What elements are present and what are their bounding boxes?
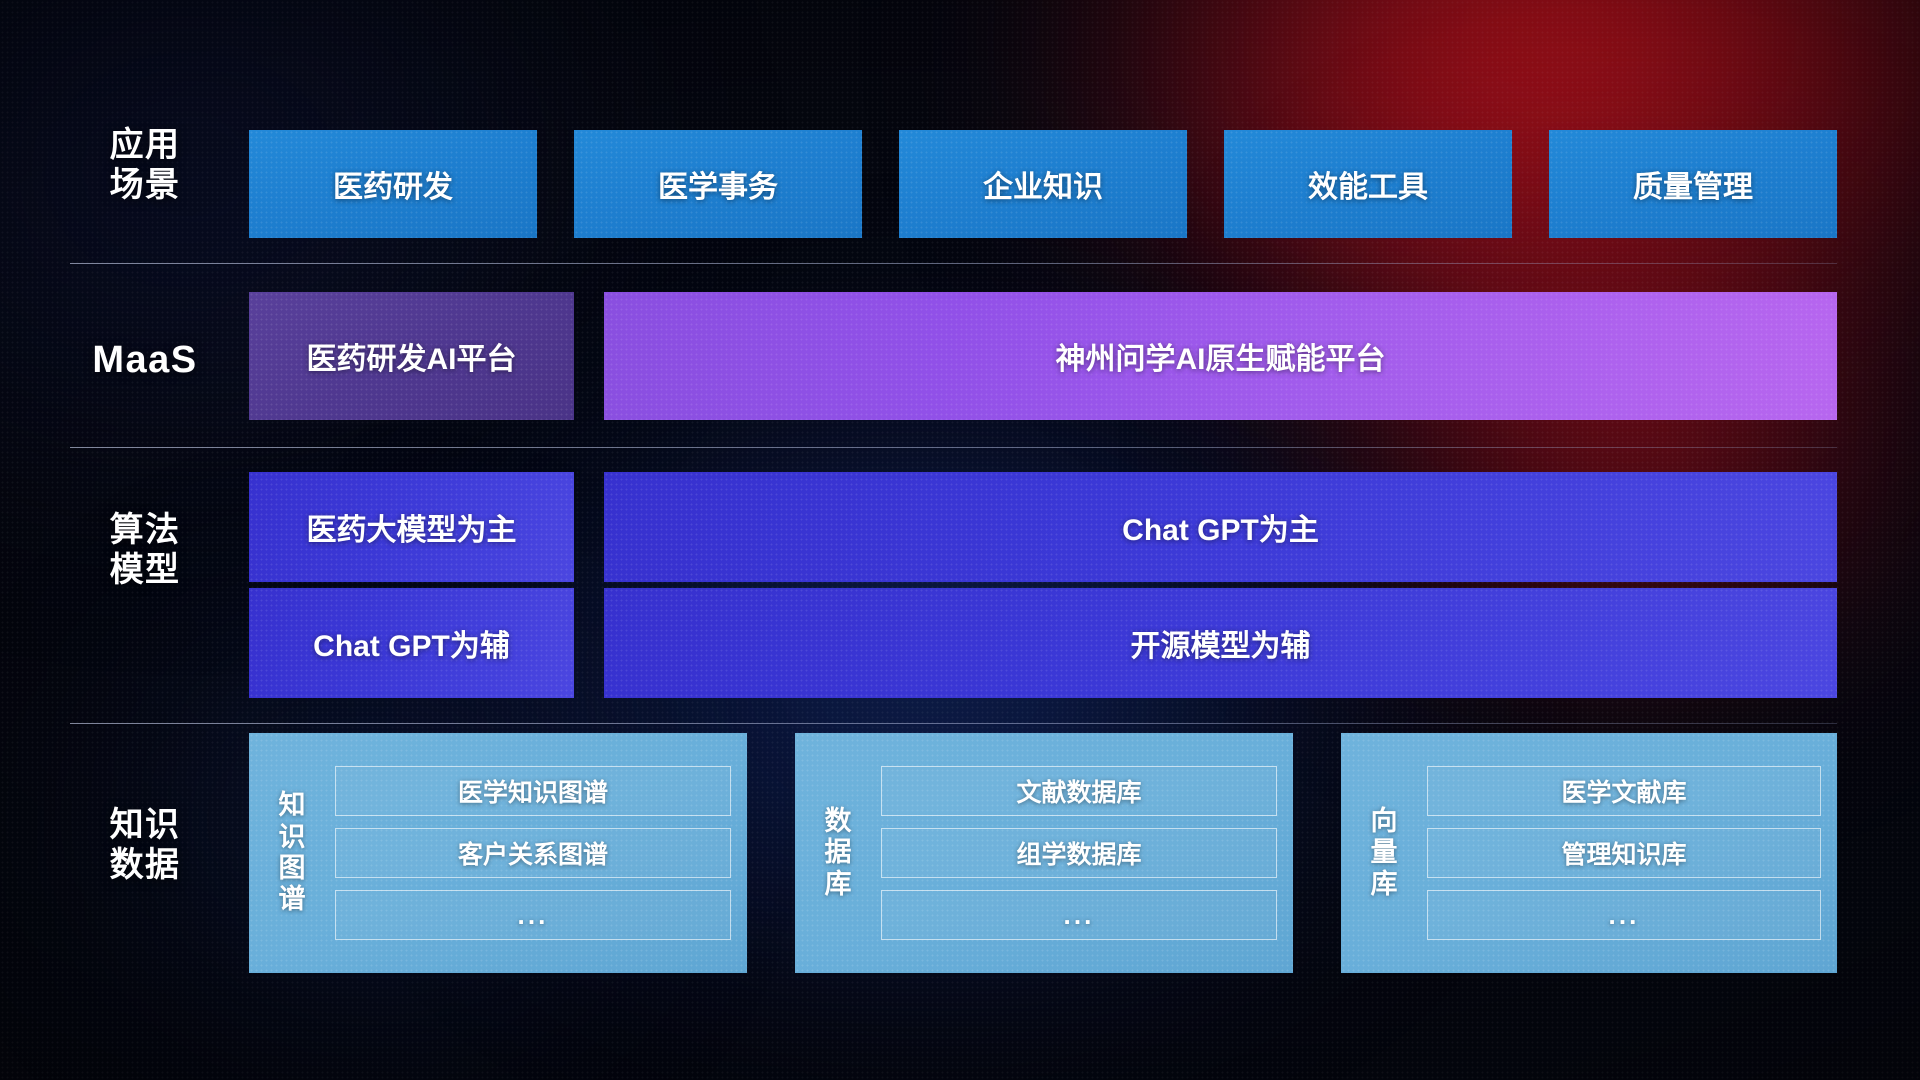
architecture-diagram: 应用 场景 医药研发 医学事务 企业知识 效能工具 质量管理 MaaS 医药研发… [0,0,1920,1080]
scenario-label-4: 效能工具 [1308,162,1428,206]
knowledge-item[interactable]: 客户关系图谱 [335,828,731,878]
scenario-label-1: 医药研发 [333,162,453,206]
algorithm-label-pharma-primary: 医药大模型为主 [307,505,517,549]
knowledge-item[interactable]: 管理知识库 [1427,828,1821,878]
row-label-algorithm-models: 算法 模型 [70,510,220,590]
algorithm-label-chatgpt-primary: Chat GPT为主 [1122,505,1319,549]
row-label-application-scenarios: 应用 场景 [70,125,220,205]
divider-2 [70,447,1837,448]
knowledge-group-vector-store[interactable]: 向 量 库 医学文献库 管理知识库 ... [1341,733,1837,973]
knowledge-group-title-vector-store: 向 量 库 [1341,747,1427,959]
row-label-maas: MaaS [70,338,220,383]
row-label-knowledge-data: 知识 数据 [70,805,220,885]
algorithm-box-chatgpt-secondary[interactable]: Chat GPT为辅 [249,588,574,698]
knowledge-item-more[interactable]: ... [881,890,1277,940]
knowledge-group-database[interactable]: 数 据 库 文献数据库 组学数据库 ... [795,733,1293,973]
knowledge-item[interactable]: 组学数据库 [881,828,1277,878]
algorithm-box-opensource-secondary[interactable]: 开源模型为辅 [604,588,1837,698]
maas-box-shenzhou-platform[interactable]: 神州问学AI原生赋能平台 [604,292,1837,420]
knowledge-item-more[interactable]: ... [1427,890,1821,940]
scenario-label-2: 医学事务 [658,162,778,206]
knowledge-item[interactable]: 医学文献库 [1427,766,1821,816]
divider-1 [70,263,1837,264]
scenario-box-1[interactable]: 医药研发 [249,130,537,238]
knowledge-item-list-vector-store: 医学文献库 管理知识库 ... [1427,747,1821,959]
algorithm-label-opensource-secondary: 开源模型为辅 [1131,621,1311,665]
maas-label-shenzhou-platform: 神州问学AI原生赋能平台 [1056,334,1386,378]
algorithm-box-chatgpt-primary[interactable]: Chat GPT为主 [604,472,1837,582]
knowledge-item-more[interactable]: ... [335,890,731,940]
knowledge-item-list-knowledge-graph: 医学知识图谱 客户关系图谱 ... [335,747,731,959]
scenario-label-3: 企业知识 [983,162,1103,206]
knowledge-group-title-database: 数 据 库 [795,747,881,959]
knowledge-group-title-knowledge-graph: 知 识 图 谱 [249,747,335,959]
knowledge-item[interactable]: 文献数据库 [881,766,1277,816]
scenario-label-5: 质量管理 [1633,162,1753,206]
scenario-box-3[interactable]: 企业知识 [899,130,1187,238]
scenario-box-5[interactable]: 质量管理 [1549,130,1837,238]
scenario-box-2[interactable]: 医学事务 [574,130,862,238]
scenario-box-4[interactable]: 效能工具 [1224,130,1512,238]
maas-box-pharma-platform[interactable]: 医药研发AI平台 [249,292,574,420]
knowledge-item[interactable]: 医学知识图谱 [335,766,731,816]
knowledge-group-knowledge-graph[interactable]: 知 识 图 谱 医学知识图谱 客户关系图谱 ... [249,733,747,973]
algorithm-box-pharma-primary[interactable]: 医药大模型为主 [249,472,574,582]
divider-3 [70,723,1837,724]
algorithm-label-chatgpt-secondary: Chat GPT为辅 [313,621,510,665]
maas-label-pharma-platform: 医药研发AI平台 [307,334,517,378]
knowledge-item-list-database: 文献数据库 组学数据库 ... [881,747,1277,959]
